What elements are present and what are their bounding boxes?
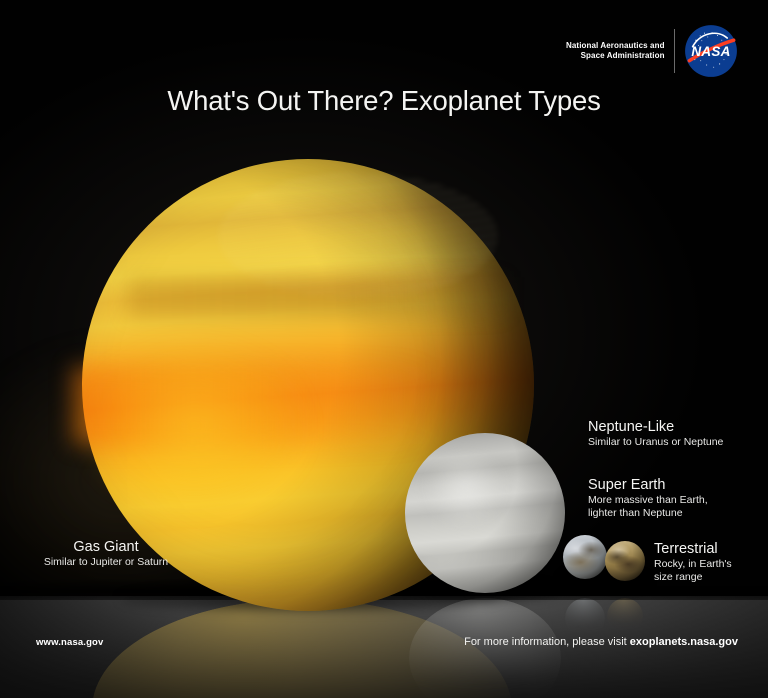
terrestrial-description-line-1: Rocky, in Earth's xyxy=(654,558,732,571)
svg-text:NASA: NASA xyxy=(691,44,730,59)
terrestrial-name: Terrestrial xyxy=(654,540,732,558)
label-terrestrial: Terrestrial Rocky, in Earth's size range xyxy=(654,540,732,584)
nasa-agency-name: National Aeronautics and Space Administr… xyxy=(566,41,665,62)
terrestrial-description-line-2: size range xyxy=(654,571,732,584)
footer-nasa-url[interactable]: www.nasa.gov xyxy=(36,637,103,648)
label-gas-giant: Gas Giant Similar to Jupiter or Saturn xyxy=(8,538,204,569)
super-earth-name: Super Earth xyxy=(588,476,708,494)
nasa-agency-line-2: Space Administration xyxy=(566,51,665,62)
label-neptune-like: Neptune-Like Similar to Uranus or Neptun… xyxy=(588,418,723,449)
nasa-meatball-icon: NASA xyxy=(684,24,738,78)
header-divider xyxy=(674,29,675,73)
super-earth-description-line-2: lighter than Neptune xyxy=(588,507,708,520)
neptune-like-planet xyxy=(405,433,565,593)
label-super-earth: Super Earth More massive than Earth, lig… xyxy=(588,476,708,520)
nasa-header: National Aeronautics and Space Administr… xyxy=(566,24,738,78)
neptune-like-description: Similar to Uranus or Neptune xyxy=(588,436,723,449)
footer-more-info: For more information, please visit exopl… xyxy=(464,636,738,648)
footer-more-info-text: For more information, please visit xyxy=(464,636,627,648)
neptune-like-highlight xyxy=(427,455,504,522)
page-title: What's Out There? Exoplanet Types xyxy=(0,85,768,117)
nasa-agency-line-1: National Aeronautics and xyxy=(566,41,665,52)
gas-giant-name: Gas Giant xyxy=(8,538,204,556)
super-earth-description-line-1: More massive than Earth, xyxy=(588,494,708,507)
footer-exoplanets-url[interactable]: exoplanets.nasa.gov xyxy=(630,636,738,648)
terrestrial-planet xyxy=(605,541,645,581)
exoplanet-types-poster: National Aeronautics and Space Administr… xyxy=(0,0,768,698)
neptune-like-name: Neptune-Like xyxy=(588,418,723,436)
gas-giant-description: Similar to Jupiter or Saturn xyxy=(8,556,204,569)
super-earth-planet xyxy=(563,535,607,579)
